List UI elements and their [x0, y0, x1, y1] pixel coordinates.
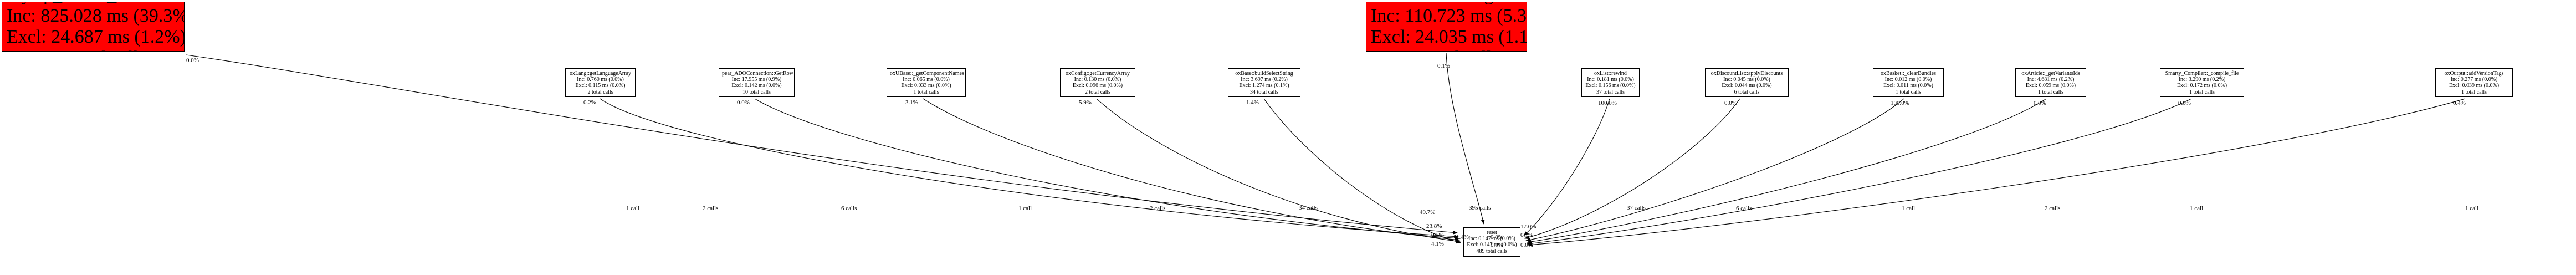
node-total-calls: 34 total calls	[1231, 89, 1297, 95]
node-total-calls: 2 total calls	[1063, 89, 1132, 95]
node-exclusive-time: Excl: 0.142 ms (0.0%)	[722, 83, 791, 89]
edge-layer	[0, 0, 2576, 275]
node-exclusive-time: Excl: 0.039 ms (0.0%)	[2439, 83, 2510, 89]
node-exclusive-time: Excl: 0.044 ms (0.0%)	[1708, 83, 1785, 89]
graph-node[interactable]: oxDiscountList::applyDiscounts Inc: 0.04…	[1705, 68, 1789, 97]
edge-label: 34 calls	[1299, 205, 1318, 211]
edge-label: 0.0%	[737, 100, 750, 106]
call-graph-canvas: mysql_driver_ADOConnection::do_query Inc…	[0, 0, 2576, 275]
node-function-name: pear_ADOConnection::GetRow	[722, 70, 791, 77]
edge-label: 0.7%	[1520, 232, 1533, 238]
node-exclusive-time: Excl: 0.096 ms (0.0%)	[1063, 83, 1132, 89]
edge-label: 2 calls	[1150, 206, 1165, 212]
edge-label: 100.0%	[1891, 100, 1909, 106]
graph-node[interactable]: pear_ADOConnection::GetRow Inc: 17.955 m…	[719, 68, 795, 97]
edge-label: 49.7%	[1420, 210, 1435, 216]
node-inclusive-time: Inc: 4.681 ms (0.2%)	[2019, 77, 2083, 83]
node-total-calls: 37 total calls	[1585, 89, 1636, 95]
node-total-calls: 1 total calls	[2163, 89, 2241, 95]
graph-node[interactable]: oxArticle::_getVariantsIds Inc: 4.681 ms…	[2015, 68, 2086, 97]
edge-label: 23.8%	[1426, 223, 1442, 230]
node-exclusive-time: Excl: 24.687 ms (1.2%)	[7, 27, 180, 48]
node-function-name: oxConfig::getCurrencyArray	[1063, 70, 1132, 77]
node-total-calls: 10 total calls	[722, 89, 791, 95]
graph-node[interactable]: oxLang::getLanguageArray Inc: 0.760 ms (…	[565, 68, 636, 97]
edge-label: 17.0%	[1520, 224, 1536, 230]
edge-label: 5.9%	[1079, 100, 1092, 106]
node-inclusive-time: Inc: 0.012 ms (0.0%)	[1876, 77, 1940, 83]
edge-label: 0.0%	[1520, 242, 1533, 248]
edge-label: 1.4%	[1246, 100, 1259, 106]
graph-node[interactable]: oxBase::buildSelectString Inc: 3.697 ms …	[1228, 68, 1300, 97]
node-total-calls: 6 total calls	[1708, 89, 1785, 95]
node-function-name: Smarty_Compiler::_compile_file	[2163, 70, 2241, 77]
node-inclusive-time: Inc: 0.181 ms (0.0%)	[1585, 77, 1636, 83]
node-exclusive-time: Excl: 24.035 ms (1.1%)	[1371, 27, 1522, 48]
graph-node[interactable]: Smarty_Compiler::_compile_file Inc: 3.29…	[2160, 68, 2244, 97]
edge-label: 0.0%	[1491, 235, 1503, 241]
node-function-name: oxDiscountList::applyDiscounts	[1708, 70, 1785, 77]
node-inclusive-time: Inc: 0.065 ms (0.0%)	[890, 77, 962, 83]
node-inclusive-time: Inc: 3.697 ms (0.2%)	[1231, 77, 1297, 83]
edge-label: 1 call	[1902, 206, 1915, 212]
edge-label: 1 call	[626, 206, 639, 212]
node-function-name: oxList::rewind	[1585, 70, 1636, 77]
node-function-name: oxBasket::_clearBundles	[1876, 70, 1940, 77]
edge-label: 1 call	[1018, 206, 1032, 212]
node-exclusive-time: Excl: 0.059 ms (0.0%)	[2019, 83, 2083, 89]
graph-node[interactable]: oxList::rewind Inc: 0.181 ms (0.0%) Excl…	[1581, 68, 1640, 97]
node-total-calls: 489 total calls	[1467, 248, 1517, 254]
node-function-name: oxArticle::_getVariantsIds	[2019, 70, 2083, 77]
node-function-name: mysql_driver_ADOConnection::do_query	[7, 2, 180, 6]
node-inclusive-time: Inc: 0.277 ms (0.0%)	[2439, 77, 2510, 83]
node-exclusive-time: Excl: 0.011 ms (0.0%)	[1876, 83, 1940, 89]
node-exclusive-time: Excl: 1.274 ms (0.1%)	[1231, 83, 1297, 89]
graph-node[interactable]: oxBase::assign Inc: 110.723 ms (5.3%) Ex…	[1366, 2, 1527, 52]
edge-label: 395 calls	[1469, 205, 1491, 211]
edge-label: 3.1%	[905, 100, 918, 106]
node-inclusive-time: Inc: 0.045 ms (0.0%)	[1708, 77, 1785, 83]
edge-label: 6 calls	[1736, 206, 1752, 212]
edge-label: 2 calls	[2045, 206, 2060, 212]
graph-node[interactable]: oxConfig::getCurrencyArray Inc: 0.130 ms…	[1060, 68, 1135, 97]
edge-label: 1 call	[2465, 206, 2478, 212]
node-inclusive-time: Inc: 0.130 ms (0.0%)	[1063, 77, 1132, 83]
edge-label: 0.0%	[186, 58, 199, 64]
edge-label: 0.0%	[1491, 242, 1503, 248]
node-total-calls: 1 total calls	[2019, 89, 2083, 95]
node-total-calls: 1 total calls	[890, 89, 962, 95]
node-function-name: oxBase::buildSelectString	[1231, 70, 1297, 77]
edge-label: 1.4%	[1456, 235, 1469, 241]
edge-label: 0.2%	[583, 100, 596, 106]
node-total-calls: 1 total calls	[1876, 89, 1940, 95]
node-inclusive-time: Inc: 825.028 ms (39.3%)	[7, 6, 180, 27]
node-function-name: oxBase::assign	[1371, 2, 1522, 6]
node-total-calls: 447 total calls	[7, 48, 180, 52]
node-function-name: oxUBase::_getComponentNames	[890, 70, 962, 77]
node-exclusive-time: Excl: 0.033 ms (0.0%)	[890, 83, 962, 89]
node-total-calls: 1 total calls	[2439, 89, 2510, 95]
node-exclusive-time: Excl: 0.115 ms (0.0%)	[569, 83, 632, 89]
edge-label: 0.1%	[1437, 63, 1450, 69]
graph-node[interactable]: oxUBase::_getComponentNames Inc: 0.065 m…	[887, 68, 966, 97]
edge-label: 100.0%	[1598, 100, 1617, 106]
node-exclusive-time: Excl: 0.172 ms (0.0%)	[2163, 83, 2241, 89]
edge-label: 0.0%	[1724, 100, 1737, 106]
node-inclusive-time: Inc: 110.723 ms (5.3%)	[1371, 6, 1522, 27]
edge-label: 0.7%	[1431, 232, 1444, 238]
node-function-name: oxLang::getLanguageArray	[569, 70, 632, 77]
edge-label: 0.4%	[2453, 100, 2466, 106]
edge-label: 1 call	[2190, 206, 2203, 212]
graph-node[interactable]: oxBasket::_clearBundles Inc: 0.012 ms (0…	[1873, 68, 1944, 97]
node-exclusive-time: Excl: 0.156 ms (0.0%)	[1585, 83, 1636, 89]
node-total-calls: 395 total calls	[1371, 48, 1522, 52]
graph-node[interactable]: oxOutput::addVersionTags Inc: 0.277 ms (…	[2435, 68, 2513, 97]
node-inclusive-time: Inc: 0.760 ms (0.0%)	[569, 77, 632, 83]
edge-label: 2 calls	[703, 206, 718, 212]
edge-label: 37 calls	[1627, 205, 1646, 211]
graph-node[interactable]: mysql_driver_ADOConnection::do_query Inc…	[2, 2, 185, 52]
node-total-calls: 2 total calls	[569, 89, 632, 95]
edge-label: 4.1%	[1431, 241, 1444, 247]
node-inclusive-time: Inc: 17.955 ms (0.9%)	[722, 77, 791, 83]
edge-label: 0.0%	[2034, 100, 2046, 106]
edge-label: 6 calls	[841, 206, 857, 212]
edge-label: 0.0%	[2178, 100, 2191, 106]
node-function-name: oxOutput::addVersionTags	[2439, 70, 2510, 77]
node-inclusive-time: Inc: 3.290 ms (0.2%)	[2163, 77, 2241, 83]
